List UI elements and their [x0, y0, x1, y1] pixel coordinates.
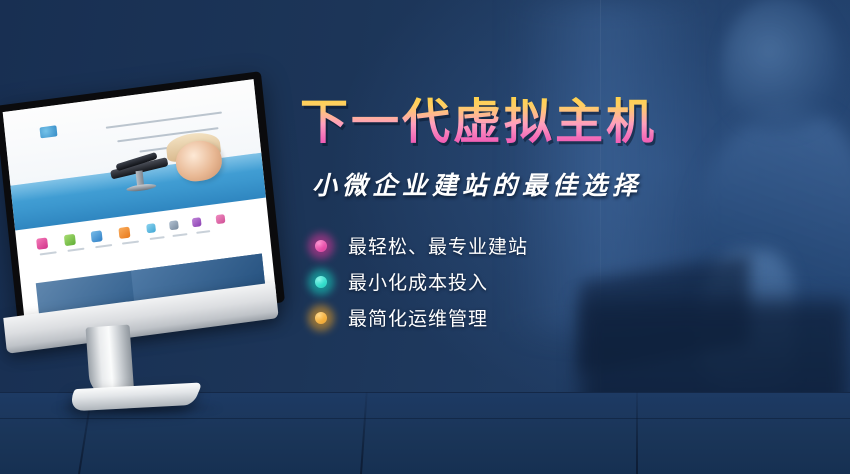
website-icon-caption	[95, 244, 112, 248]
subtitle: 小微企业建站的最佳选择	[312, 166, 720, 202]
desktop-monitor	[0, 78, 292, 418]
text-column: 下一代虚拟主机 小微企业建站的最佳选择 最轻松、最专业建站 最小化成本投入	[300, 96, 720, 336]
website-icon-caption	[149, 236, 164, 240]
bullet-dot-icon	[306, 267, 336, 297]
website-app-icon	[91, 230, 103, 242]
website-icon-caption	[122, 241, 139, 245]
feature-list: 最轻松、最专业建站 最小化成本投入 最简化运维管理	[306, 228, 720, 336]
floor-mid-line	[0, 418, 850, 419]
website-icon-caption	[40, 251, 57, 255]
feature-list-item-label: 最轻松、最专业建站	[348, 232, 528, 259]
feature-list-item: 最轻松、最专业建站	[306, 228, 720, 264]
website-app-icon	[192, 217, 202, 227]
website-product-image	[109, 152, 170, 197]
website-logo-icon	[40, 125, 58, 138]
person-silhouette-head	[722, 0, 840, 132]
website-app-icon	[215, 214, 225, 224]
bullet-dot-icon	[306, 231, 336, 261]
product-base	[126, 182, 156, 192]
bullet-dot-icon	[306, 303, 336, 333]
website-app-icon	[146, 223, 156, 233]
website-app-icon	[36, 238, 48, 250]
website-icon-caption	[196, 230, 211, 234]
website-app-icon	[64, 234, 76, 246]
feature-list-item-label: 最小化成本投入	[348, 268, 488, 295]
feature-list-item-label: 最简化运维管理	[348, 304, 488, 331]
website-app-icon	[119, 227, 131, 239]
feature-list-item: 最简化运维管理	[306, 300, 720, 336]
feature-list-item: 最小化成本投入	[306, 264, 720, 300]
website-icon-caption	[67, 248, 84, 252]
website-app-icon	[169, 220, 179, 230]
website-icon-caption	[173, 233, 188, 237]
main-title: 下一代虚拟主机	[300, 96, 720, 150]
floor-grid-line	[636, 392, 638, 474]
promo-banner: 下一代虚拟主机 小微企业建站的最佳选择 最轻松、最专业建站 最小化成本投入	[0, 0, 850, 474]
